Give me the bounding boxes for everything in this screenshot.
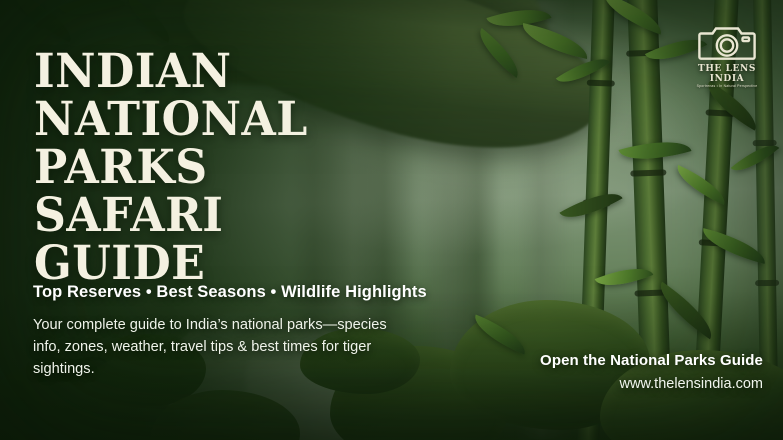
subtitle-features: Top Reserves • Best Seasons • Wildlife H…: [33, 283, 427, 302]
national-parks-guide-banner: Indian National Parks Safari Guide Top R…: [0, 0, 783, 440]
brand-logo[interactable]: The Lens India Sportrenas • In Natural P…: [685, 22, 769, 88]
camera-icon: [685, 22, 769, 62]
brand-name: The Lens India: [685, 64, 769, 84]
website-url[interactable]: www.thelensindia.com: [540, 376, 763, 392]
page-title: Indian National Parks Safari Guide: [34, 48, 308, 288]
brand-tagline: Sportrenas • In Natural Perspective: [687, 84, 768, 88]
banner-content: Indian National Parks Safari Guide Top R…: [0, 0, 783, 440]
call-to-action[interactable]: Open the National Parks Guide www.thelen…: [540, 352, 763, 392]
cta-label[interactable]: Open the National Parks Guide: [540, 352, 763, 369]
description-text: Your complete guide to India’s national …: [33, 314, 403, 380]
